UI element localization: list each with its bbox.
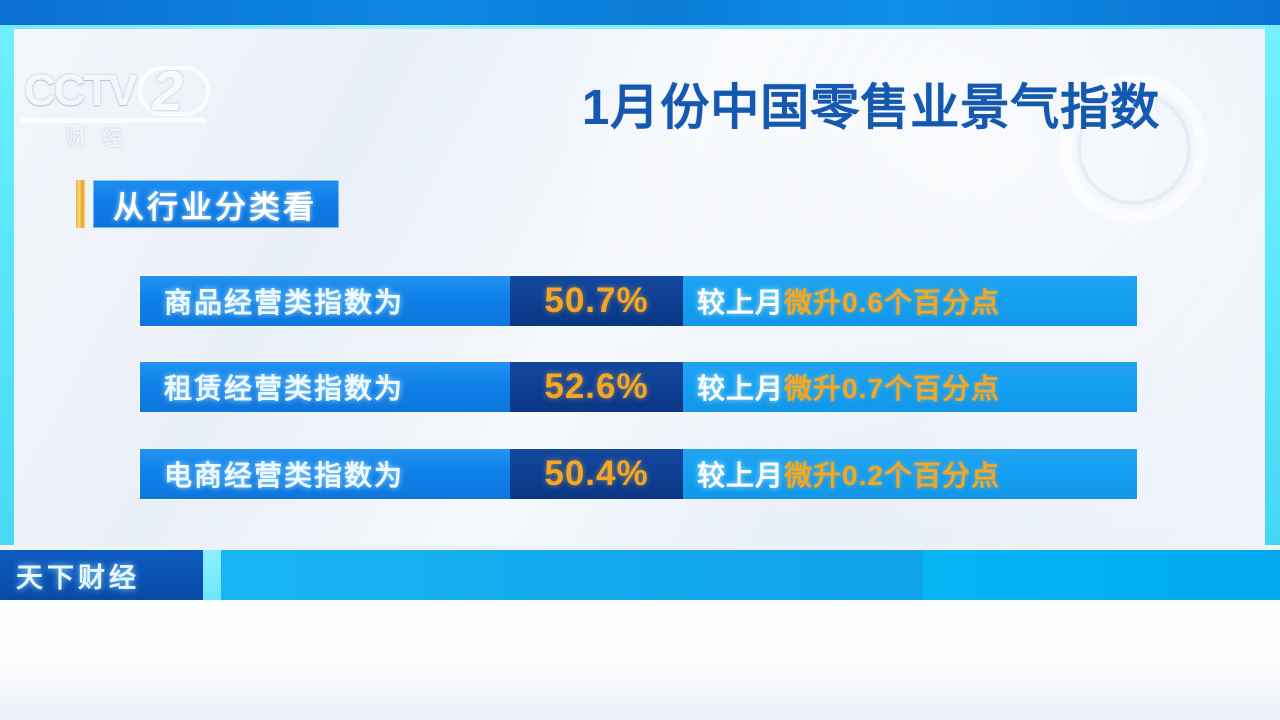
lower-third-ticker: 1月份中国零售业景气指数为50.9% [0,600,1280,720]
row-note-highlight: 微升0.2个百分点 [784,454,1000,494]
row-label-cell: 商品经营类指数为 [140,276,510,326]
row-label-cell: 租赁经营类指数为 [140,362,510,412]
channel-logo-number: 2 [152,58,183,123]
broadcast-stage: CCTV 2 财经 1月份中国零售业景气指数 从行业分类看 商品经营类指数为 5… [0,0,1280,720]
program-band: 天下财经 [0,550,1280,600]
band-fill-left [221,550,923,600]
table-row: 商品经营类指数为 50.7% 较上月 微升0.6个百分点 [140,276,1137,326]
channel-logo-text: CCTV [24,66,136,116]
program-name-box: 天下财经 [0,550,203,600]
row-note-cell: 较上月 微升0.2个百分点 [683,449,1137,499]
program-name-text: 天下财经 [16,556,140,595]
row-label-cell: 电商经营类指数为 [140,449,510,499]
section-accent-bar [76,180,85,228]
left-cyan-edge [0,25,14,545]
row-note-cell: 较上月 微升0.7个百分点 [683,362,1137,412]
row-note-prefix: 较上月 [697,367,784,407]
band-cyan-tick [203,550,221,600]
row-label-text: 租赁经营类指数为 [164,367,404,407]
page-title: 1月份中国零售业景气指数 [582,68,1160,139]
table-row: 电商经营类指数为 50.4% 较上月 微升0.2个百分点 [140,449,1137,499]
row-note-prefix: 较上月 [697,281,784,321]
row-value-cell: 52.6% [510,362,683,412]
table-row: 租赁经营类指数为 52.6% 较上月 微升0.7个百分点 [140,362,1137,412]
band-fill-right [923,550,1280,600]
row-label-text: 商品经营类指数为 [164,281,404,321]
channel-logo-subtitle: 财经 [66,122,206,151]
row-label-text: 电商经营类指数为 [164,454,404,494]
row-value-text: 52.6% [544,367,648,407]
row-value-cell: 50.4% [510,449,683,499]
row-note-cell: 较上月 微升0.6个百分点 [683,276,1137,326]
top-blue-bar [0,0,1280,25]
row-value-cell: 50.7% [510,276,683,326]
row-note-prefix: 较上月 [697,454,784,494]
section-label-box: 从行业分类看 [93,180,339,228]
row-note-highlight: 微升0.6个百分点 [784,281,1000,321]
cctv2-watermark-icon: CCTV 2 财经 [14,56,214,166]
row-value-text: 50.4% [544,454,648,494]
row-value-text: 50.7% [544,281,648,321]
section-label: 从行业分类看 [76,180,339,228]
right-cyan-edge [1265,25,1280,545]
section-label-text: 从行业分类看 [113,182,317,227]
row-note-highlight: 微升0.7个百分点 [784,367,1000,407]
